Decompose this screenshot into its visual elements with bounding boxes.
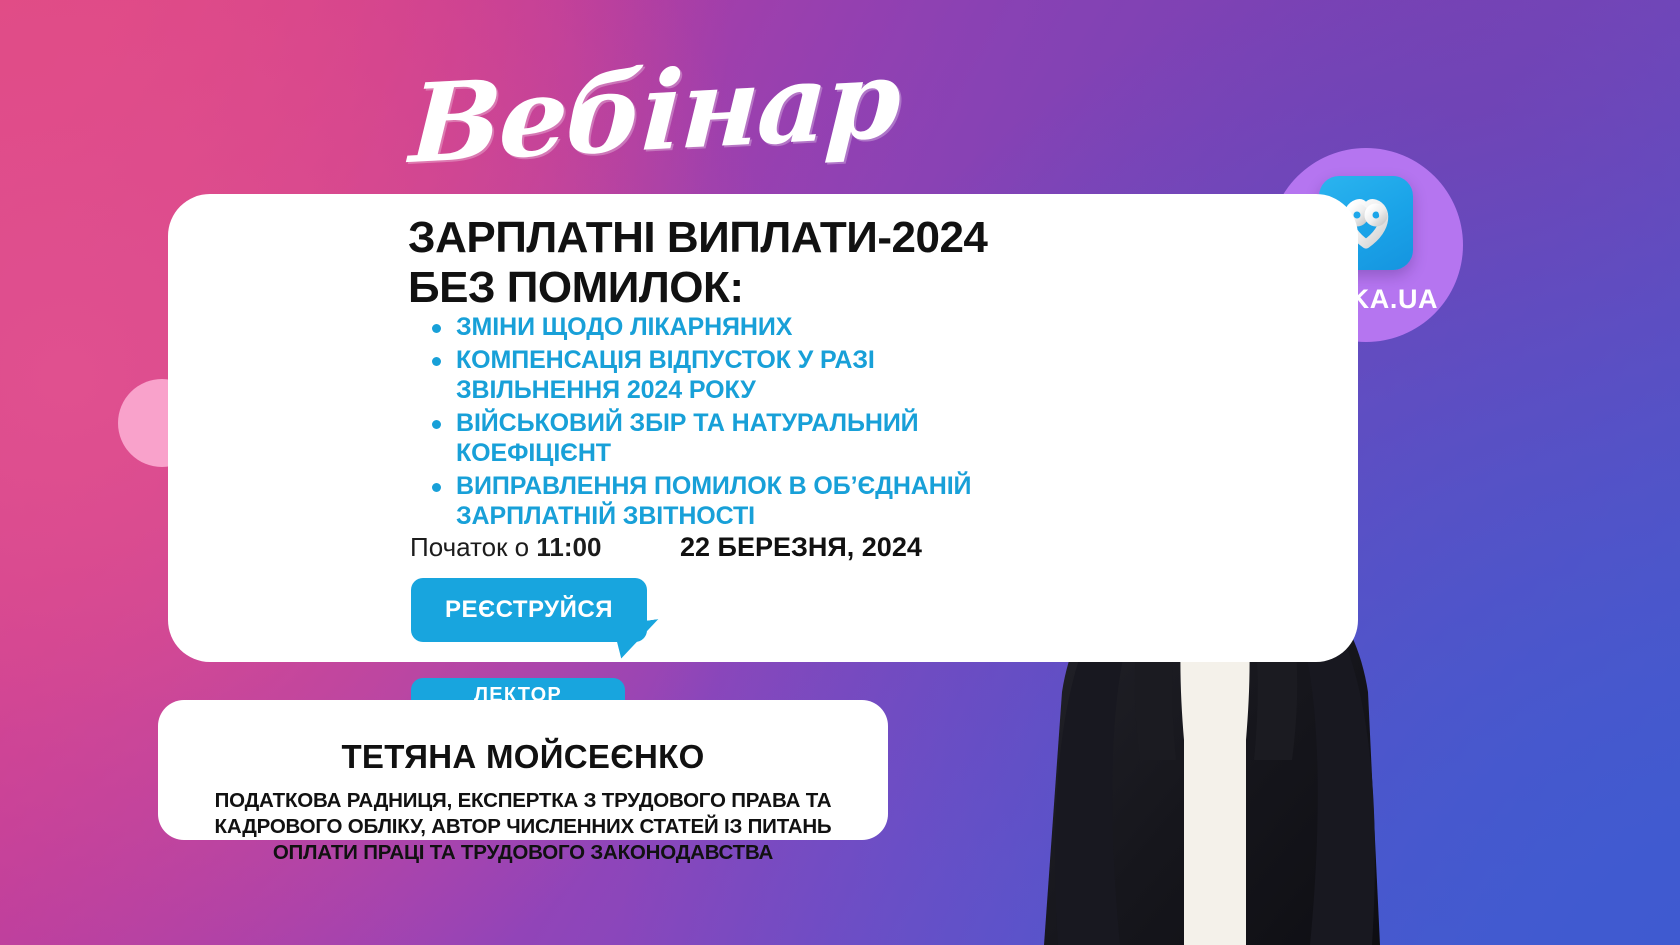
topics-list: ЗМІНИ ЩОДО ЛІКАРНЯНИХ КОМПЕНСАЦІЯ ВІДПУС… [428,312,1028,534]
lecturer-bio-line-1: ПОДАТКОВА РАДНИЦЯ, ЕКСПЕРТКА З ТРУДОВОГО… [215,788,832,814]
start-time-label: Початок о [410,532,536,562]
webinar-script-title: Вебінар [407,45,901,179]
list-item: ВИПРАВЛЕННЯ ПОМИЛОК В ОБ’ЄДНАНІЙ ЗАРПЛАТ… [428,471,1028,531]
card-heading-line-2: БЕЗ ПОМИЛОК: [408,262,744,313]
register-cta-wrapper: РЕЄСТРУЙСЯ [411,578,647,642]
lecturer-bio-line-2: КАДРОВОГО ОБЛІКУ, АВТОР ЧИСЛЕННИХ СТАТЕЙ… [215,814,832,840]
card-heading-line-1: ЗАРПЛАТНІ ВИПЛАТИ-2024 [408,212,987,263]
lecturer-bio-line-3: ОПЛАТИ ПРАЦІ ТА ТРУДОВОГО ЗАКОНОДАВСТВА [215,840,832,866]
list-item: ЗМІНИ ЩОДО ЛІКАРНЯНИХ [428,312,1028,342]
start-time-value: 11:00 [536,532,601,562]
lecturer-name: ТЕТЯНА МОЙСЕЄНКО [341,738,704,776]
event-date-text: 22 БЕРЕЗНЯ, 2024 [680,532,922,563]
lecturer-card: ТЕТЯНА МОЙСЕЄНКО ПОДАТКОВА РАДНИЦЯ, ЕКСП… [158,700,888,840]
start-time-text: Початок о 11:00 [410,532,601,563]
webinar-promo-banner: Вебінар UTEKA.UA [0,0,1680,945]
list-item: ВІЙСЬКОВИЙ ЗБІР ТА НАТУРАЛЬНИЙ КОЕФІЦІЄН… [428,408,1028,468]
list-item: КОМПЕНСАЦІЯ ВІДПУСТОК У РАЗІ ЗВІЛЬНЕННЯ … [428,345,1028,405]
register-button[interactable]: РЕЄСТРУЙСЯ [411,578,647,642]
lecturer-bio: ПОДАТКОВА РАДНИЦЯ, ЕКСПЕРТКА З ТРУДОВОГО… [215,788,832,865]
